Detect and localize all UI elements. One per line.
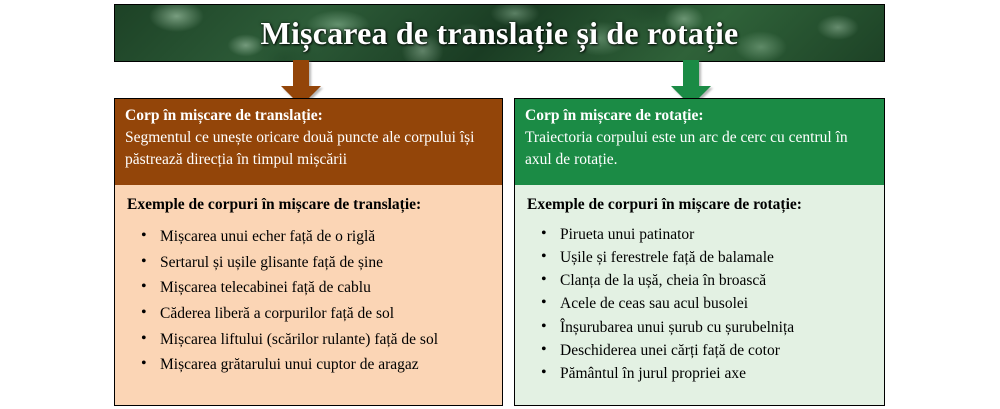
translation-examples-list: Mișcarea unui echer față de o riglă Sert… [127,225,494,376]
list-item: Deschiderea unei cărți față de cotor [527,339,876,362]
panel-rotation-examples-title: Exemple de corpuri în mișcare de rotație… [527,195,876,215]
title-banner: Mișcarea de translație și de rotație [114,4,885,62]
list-item: Mișcarea grătarului unui cuptor de araga… [127,353,494,376]
panel-rotation-header: Corp în mișcare de rotație: Traiectoria … [515,99,884,185]
list-item: Mișcarea unui echer față de o riglă [127,225,494,248]
list-item: Sertarul și ușile glisante față de șine [127,251,494,274]
list-item: Clanța de la ușă, cheia în broască [527,269,876,292]
list-item: Căderea liberă a corpurilor față de sol [127,302,494,325]
list-item: Pământul în jurul propriei axe [527,362,876,385]
list-item: Acele de ceas sau acul busolei [527,292,876,315]
panel-translation-header-title: Corp în mișcare de translație: [125,105,494,127]
panel-translation-header: Corp în mișcare de translație: Segmentul… [115,99,502,185]
panel-translation: Corp în mișcare de translație: Segmentul… [114,98,503,406]
panel-rotation-header-description: Traiectoria corpului este un arc de cerc… [525,127,876,171]
rotation-examples-list: Pirueta unui patinator Ușile și ferestre… [527,223,876,385]
panel-rotation-body: Exemple de corpuri în mișcare de rotație… [515,185,884,391]
list-item: Ușile și ferestrele față de balamale [527,246,876,269]
panel-translation-examples-title: Exemple de corpuri în mișcare de transla… [127,195,494,215]
panel-translation-body: Exemple de corpuri în mișcare de transla… [115,185,502,385]
list-item: Mișcarea telecabinei față de cablu [127,276,494,299]
list-item: Înșurubarea unui șurub cu șurubelnița [527,316,876,339]
panel-rotation: Corp în mișcare de rotație: Traiectoria … [514,98,885,406]
panel-translation-header-description: Segmentul ce unește oricare două puncte … [125,127,494,171]
list-item: Pirueta unui patinator [527,223,876,246]
page-title: Mișcarea de translație și de rotație [261,15,739,52]
panel-rotation-header-title: Corp în mișcare de rotație: [525,105,876,127]
list-item: Mișcarea liftului (scărilor rulante) faț… [127,328,494,351]
